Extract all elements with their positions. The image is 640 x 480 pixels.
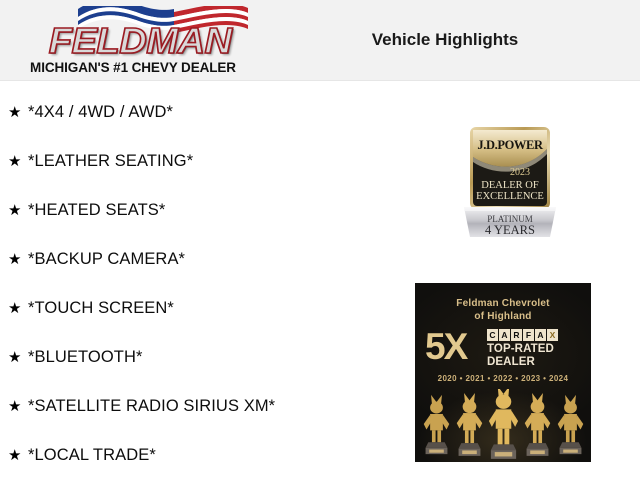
star-bullet-icon: ★ xyxy=(8,301,28,316)
highlight-label: *LOCAL TRADE* xyxy=(28,446,156,465)
carfax-brand-logo: C A R F A X xyxy=(487,329,558,341)
highlight-label: *SATELLITE RADIO SIRIUS XM* xyxy=(28,397,275,416)
highlight-label: *4X4 / 4WD / AWD* xyxy=(28,103,173,122)
carfax-letter: R xyxy=(511,329,522,341)
carfax-dealer-line2: of Highland xyxy=(415,311,591,322)
carfax-fox-trophy-icon xyxy=(421,393,452,459)
carfax-letter: A xyxy=(499,329,510,341)
list-item: ★ *BLUETOOTH* xyxy=(0,333,400,382)
jdpower-brand-text: J.D.POWER xyxy=(477,138,544,152)
jdpower-duration-text: 4 YEARS xyxy=(485,223,535,237)
carfax-letter: C xyxy=(487,329,498,341)
star-bullet-icon: ★ xyxy=(8,399,28,414)
highlight-label: *HEATED SEATS* xyxy=(28,201,165,220)
carfax-top-rated-dealer-award: Feldman Chevrolet of Highland 5X C A R F… xyxy=(415,283,591,462)
carfax-trophy-row xyxy=(415,387,591,459)
carfax-letter: X xyxy=(547,329,558,341)
carfax-award-line2: DEALER xyxy=(487,356,554,369)
list-item: ★ *4X4 / 4WD / AWD* xyxy=(0,88,400,137)
page-title: Vehicle Highlights xyxy=(300,30,590,50)
highlight-label: *BACKUP CAMERA* xyxy=(28,250,185,269)
jd-power-dealer-of-excellence-badge: J.D.POWER 2023 DEALER OF EXCELLENCE PLAT… xyxy=(464,127,556,237)
feldman-dealer-logo: FELDMAN MICHIGAN'S #1 CHEVY DEALER xyxy=(14,4,252,80)
jdpower-award-line2: EXCELLENCE xyxy=(476,191,544,202)
list-item: ★ *LEATHER SEATING* xyxy=(0,137,400,186)
carfax-fox-trophy-icon xyxy=(522,393,553,459)
carfax-letter: A xyxy=(535,329,546,341)
star-bullet-icon: ★ xyxy=(8,252,28,267)
carfax-award-headline: 5X C A R F A X TOP-RATED DEALER xyxy=(425,328,581,370)
list-item: ★ *BACKUP CAMERA* xyxy=(0,235,400,284)
carfax-fox-trophy-icon xyxy=(555,393,586,459)
list-item: ★ *SATELLITE RADIO SIRIUS XM* xyxy=(0,382,400,431)
list-item: ★ *LOCAL TRADE* xyxy=(0,431,400,480)
carfax-dealer-line1: Feldman Chevrolet xyxy=(415,298,591,309)
carfax-award-years: 2020 • 2021 • 2022 • 2023 • 2024 xyxy=(415,374,591,383)
jdpower-year-text: 2023 xyxy=(510,167,530,178)
star-bullet-icon: ★ xyxy=(8,448,28,463)
highlight-label: *LEATHER SEATING* xyxy=(28,152,193,171)
list-item: ★ *HEATED SEATS* xyxy=(0,186,400,235)
carfax-fox-trophy-icon xyxy=(487,389,520,459)
star-bullet-icon: ★ xyxy=(8,105,28,120)
jdpower-award-line1: DEALER OF xyxy=(481,180,539,191)
carfax-multiplier-text: 5X xyxy=(425,326,466,368)
carfax-fox-trophy-icon xyxy=(454,393,485,459)
star-bullet-icon: ★ xyxy=(8,203,28,218)
vehicle-highlights-list: ★ *4X4 / 4WD / AWD* ★ *LEATHER SEATING* … xyxy=(0,88,400,480)
star-bullet-icon: ★ xyxy=(8,154,28,169)
carfax-award-text: TOP-RATED DEALER xyxy=(487,343,554,368)
feldman-tagline: MICHIGAN'S #1 CHEVY DEALER xyxy=(14,60,252,75)
list-item: ★ *TOUCH SCREEN* xyxy=(0,284,400,333)
highlight-label: *TOUCH SCREEN* xyxy=(28,299,174,318)
highlight-label: *BLUETOOTH* xyxy=(28,348,143,367)
feldman-wordmark: FELDMAN xyxy=(14,22,266,60)
carfax-letter: F xyxy=(523,329,534,341)
star-bullet-icon: ★ xyxy=(8,350,28,365)
carfax-award-line1: TOP-RATED xyxy=(487,343,554,356)
